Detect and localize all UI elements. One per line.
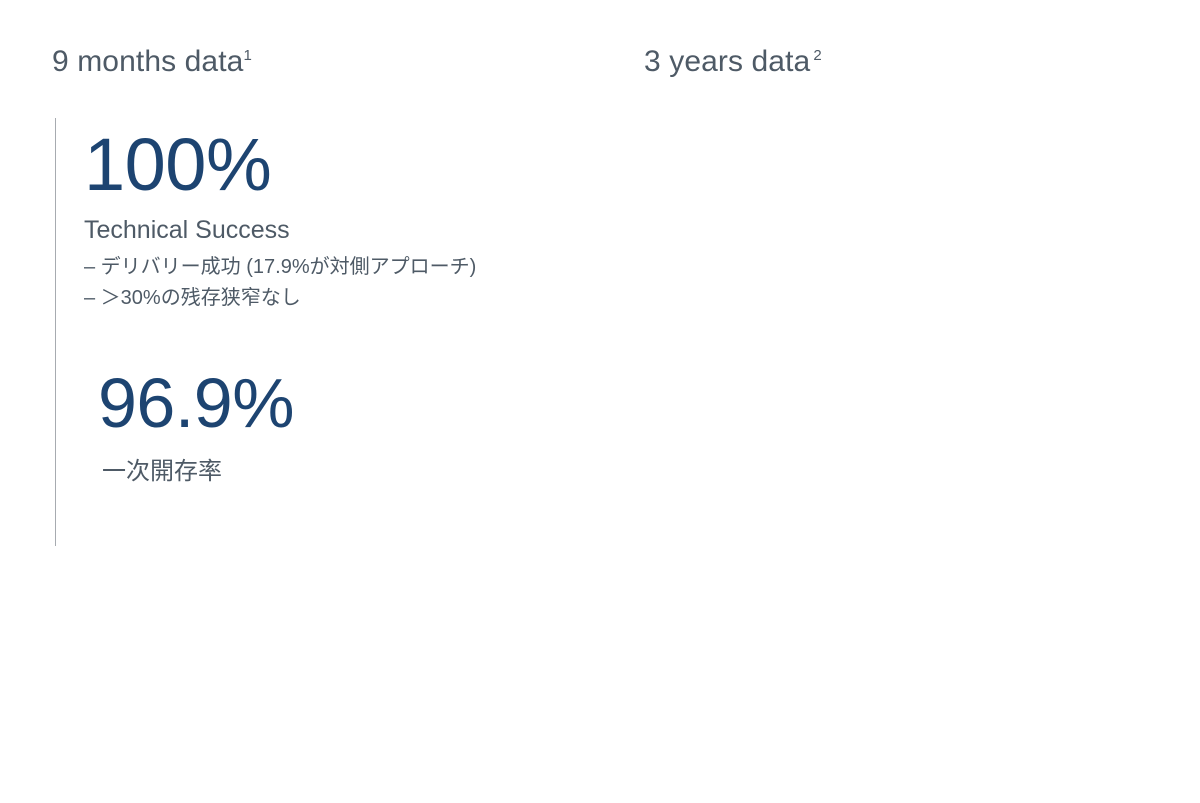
stat-primary-patency: 96.9% 一次開存率 xyxy=(84,368,554,488)
stat-bullets-technical-success: – デリバリー成功 (17.9%が対側アプローチ) – ＞30%の残存狭窄なし xyxy=(84,252,554,314)
stat-value-primary-patency: 96.9% xyxy=(98,368,554,438)
stat-technical-success: 100% Technical Success – デリバリー成功 (17.9%が… xyxy=(84,128,554,314)
left-column-heading-superscript: 1 xyxy=(243,47,251,64)
stat-label-technical-success: Technical Success xyxy=(84,214,554,248)
right-column: 3 years data2 91.2% TLR回避率 92.1% Rutherf… xyxy=(600,0,1200,803)
left-column: 9 months data1 100% Technical Success – … xyxy=(0,0,600,803)
left-column-heading: 9 months data1 xyxy=(52,44,600,80)
left-column-divider xyxy=(55,118,56,546)
right-column-heading-superscript: 2 xyxy=(813,47,821,64)
stat-label-primary-patency: 一次開存率 xyxy=(98,456,554,488)
results-summary-slide: 9 months data1 100% Technical Success – … xyxy=(0,0,1200,803)
stat-value-technical-success: 100% xyxy=(84,128,554,202)
right-column-heading: 3 years data2 xyxy=(644,44,1200,80)
left-column-stat-list: 100% Technical Success – デリバリー成功 (17.9%が… xyxy=(84,128,554,488)
stat-bullet-item: – ＞30%の残存狭窄なし xyxy=(84,283,554,314)
left-column-heading-text: 9 months data xyxy=(52,45,243,78)
right-column-heading-text: 3 years data xyxy=(644,45,810,78)
stat-bullet-item: – デリバリー成功 (17.9%が対側アプローチ) xyxy=(84,252,554,283)
